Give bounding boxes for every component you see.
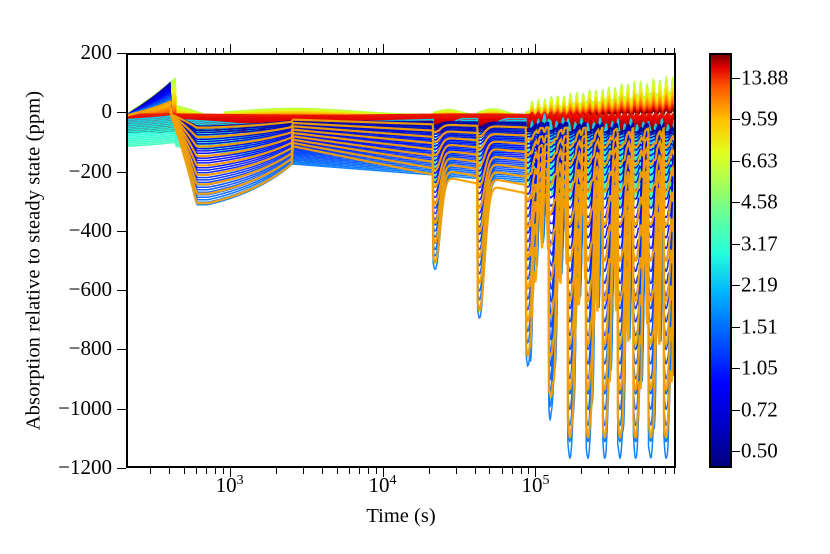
x-top-tick <box>359 48 360 54</box>
x-minor-tick <box>456 468 457 474</box>
colorbar-tick-label: 4.58 <box>741 192 778 213</box>
x-minor-tick <box>169 468 170 474</box>
colorbar-tick <box>732 368 740 369</box>
x-tick-label: 104 <box>369 474 397 496</box>
x-top-tick <box>628 48 629 54</box>
x-minor-tick <box>349 468 350 474</box>
y-tick <box>117 349 126 350</box>
colorbar-tick-label: 13.88 <box>741 67 788 88</box>
x-tick-label: 105 <box>521 474 549 496</box>
colorbar-tick <box>732 161 740 162</box>
x-top-tick <box>512 48 513 54</box>
colorbar-gradient <box>711 55 730 466</box>
y-tick-label: −400 <box>0 220 112 241</box>
x-top-tick <box>502 48 503 54</box>
x-top-tick <box>521 48 522 54</box>
colorbar-tick-label: 0.72 <box>741 399 778 420</box>
x-top-tick <box>150 48 151 54</box>
x-top-tick <box>456 48 457 54</box>
x-top-tick <box>276 48 277 54</box>
x-top-tick <box>654 48 655 54</box>
x-top-tick <box>223 48 224 54</box>
x-minor-tick <box>628 468 629 474</box>
x-top-tick <box>169 48 170 54</box>
x-minor-tick <box>276 468 277 474</box>
x-top-tick <box>322 48 323 54</box>
colorbar-tick <box>732 327 740 328</box>
colorbar-tick-label: 1.51 <box>741 316 778 337</box>
colorbar-tick <box>732 285 740 286</box>
x-top-tick <box>429 48 430 54</box>
x-top-tick <box>230 44 231 53</box>
x-minor-tick <box>502 468 503 474</box>
y-tick-label: 200 <box>0 42 112 63</box>
colorbar-tick <box>732 202 740 203</box>
x-minor-tick <box>642 468 643 474</box>
x-top-tick <box>349 48 350 54</box>
y-tick <box>117 290 126 291</box>
figure: Absorption relative to steady state (ppm… <box>0 0 830 554</box>
x-minor-tick <box>581 468 582 474</box>
x-top-tick <box>383 44 384 53</box>
y-tick <box>117 172 126 173</box>
x-minor-tick <box>196 468 197 474</box>
x-top-tick <box>337 48 338 54</box>
x-minor-tick <box>608 468 609 474</box>
x-top-tick <box>535 44 536 53</box>
x-minor-tick <box>665 468 666 474</box>
x-top-tick <box>196 48 197 54</box>
x-top-tick <box>642 48 643 54</box>
colorbar-tick <box>732 451 740 452</box>
colorbar-tick <box>732 244 740 245</box>
x-top-tick <box>581 48 582 54</box>
y-tick-label: −1200 <box>0 457 112 478</box>
x-top-tick <box>528 48 529 54</box>
x-minor-tick <box>206 468 207 474</box>
colorbar <box>709 53 732 468</box>
x-top-tick <box>674 48 675 54</box>
colorbar-tick-label: 9.59 <box>741 109 778 130</box>
colorbar-tick-label: 2.19 <box>741 275 778 296</box>
x-top-tick <box>376 48 377 54</box>
x-minor-tick <box>303 468 304 474</box>
x-top-tick <box>489 48 490 54</box>
y-tick <box>117 112 126 113</box>
x-minor-tick <box>489 468 490 474</box>
plot-area <box>126 53 676 468</box>
colorbar-tick-label: 0.50 <box>741 441 778 462</box>
x-minor-tick <box>674 468 675 474</box>
y-tick <box>117 468 126 469</box>
y-tick-label: 0 <box>0 101 112 122</box>
x-minor-tick <box>359 468 360 474</box>
y-tick <box>117 53 126 54</box>
x-minor-tick <box>184 468 185 474</box>
x-minor-tick <box>322 468 323 474</box>
x-minor-tick <box>512 468 513 474</box>
y-tick <box>117 231 126 232</box>
x-tick-label: 103 <box>216 474 244 496</box>
colorbar-tick-label: 3.17 <box>741 233 778 254</box>
colorbar-tick <box>732 410 740 411</box>
colorbar-tick <box>732 119 740 120</box>
x-top-tick <box>475 48 476 54</box>
x-top-tick <box>206 48 207 54</box>
x-minor-tick <box>475 468 476 474</box>
x-minor-tick <box>429 468 430 474</box>
colorbar-tick-label: 1.05 <box>741 358 778 379</box>
x-top-tick <box>608 48 609 54</box>
x-minor-tick <box>337 468 338 474</box>
x-top-tick <box>184 48 185 54</box>
colorbar-tick <box>732 78 740 79</box>
x-top-tick <box>368 48 369 54</box>
x-top-tick <box>665 48 666 54</box>
data-lines <box>128 55 676 468</box>
y-tick <box>117 409 126 410</box>
x-top-tick <box>303 48 304 54</box>
y-tick-label: −200 <box>0 161 112 182</box>
y-tick-label: −1000 <box>0 398 112 419</box>
x-minor-tick <box>150 468 151 474</box>
y-tick-label: −600 <box>0 279 112 300</box>
colorbar-tick-label: 6.63 <box>741 150 778 171</box>
y-tick-label: −800 <box>0 338 112 359</box>
x-axis-label: Time (s) <box>126 505 676 528</box>
x-minor-tick <box>654 468 655 474</box>
x-top-tick <box>215 48 216 54</box>
